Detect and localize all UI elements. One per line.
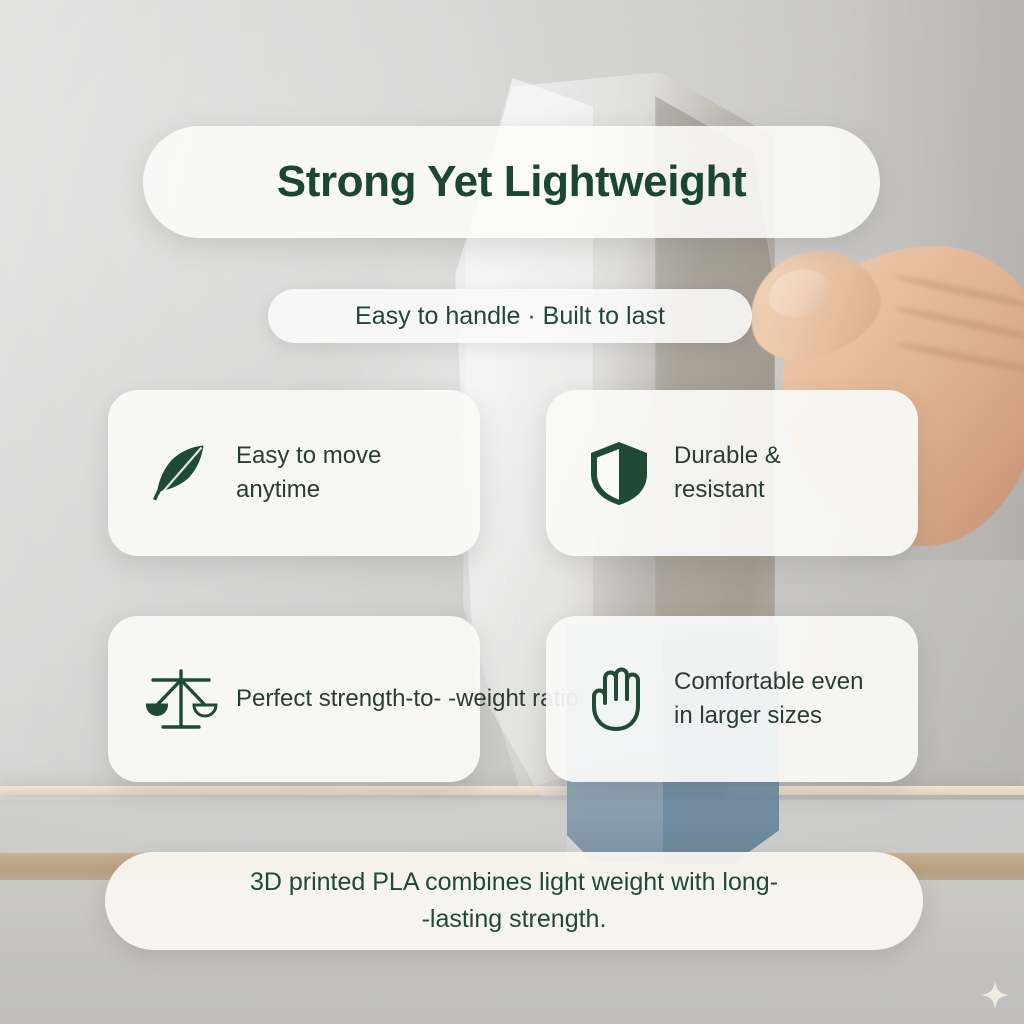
feature-card-durable[interactable]: Durable & resistant bbox=[546, 390, 918, 556]
feather-icon bbox=[142, 434, 220, 512]
page-title: Strong Yet Lightweight bbox=[277, 157, 747, 207]
feature-label: Comfortable even in larger sizes bbox=[674, 665, 863, 733]
feature-card-strength-to-weight[interactable]: Perfect strength-to- -weight ratio bbox=[108, 616, 480, 782]
feature-card-comfortable[interactable]: Comfortable even in larger sizes bbox=[546, 616, 918, 782]
feature-label: Easy to move anytime bbox=[236, 439, 381, 507]
feature-card-easy-to-move[interactable]: Easy to move anytime bbox=[108, 390, 480, 556]
sparkle-icon bbox=[980, 980, 1010, 1010]
hand-icon bbox=[580, 660, 658, 738]
title-pill: Strong Yet Lightweight bbox=[143, 126, 880, 238]
page-subtitle: Easy to handle · Built to last bbox=[355, 302, 665, 331]
infographic-canvas: Strong Yet Lightweight Easy to handle · … bbox=[0, 0, 1024, 1024]
feature-label: Durable & resistant bbox=[674, 439, 781, 507]
shield-icon bbox=[580, 434, 658, 512]
footer-banner: 3D printed PLA combines light weight wit… bbox=[105, 852, 923, 950]
subtitle-pill: Easy to handle · Built to last bbox=[268, 289, 752, 343]
balance-scale-icon bbox=[142, 660, 220, 738]
feature-label: Perfect strength-to- -weight ratio bbox=[236, 682, 579, 716]
footer-text: 3D printed PLA combines light weight wit… bbox=[250, 864, 778, 938]
